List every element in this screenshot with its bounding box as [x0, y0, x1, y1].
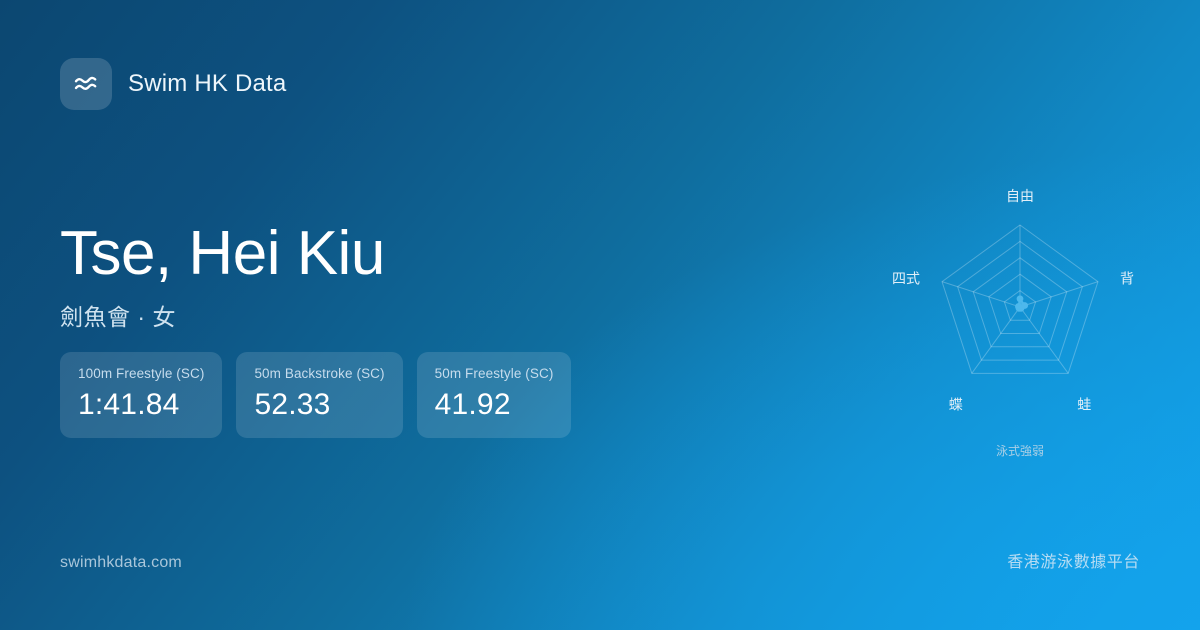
radar-series-polygon	[1015, 295, 1028, 311]
footer-site-url: swimhkdata.com	[60, 554, 182, 572]
page-title: Tse, Hei Kiu	[60, 222, 385, 286]
headline: Tse, Hei Kiu 劍魚會 · 女	[60, 222, 385, 332]
radar-axis-labels: 自由背蛙蝶四式	[892, 189, 1134, 413]
radar-axis-label: 蛙	[1077, 397, 1091, 413]
stat-card-value: 41.92	[435, 388, 554, 422]
og-preview-card: Swim HK Data Tse, Hei Kiu 劍魚會 · 女 100m F…	[0, 0, 1200, 630]
brand-name: Swim HK Data	[128, 70, 286, 98]
stat-card: 100m Freestyle (SC) 1:41.84	[60, 352, 222, 438]
wave-icon	[60, 58, 112, 110]
stroke-strength-radar-chart: 自由背蛙蝶四式 泳式強弱	[860, 170, 1180, 470]
stat-card-list: 100m Freestyle (SC) 1:41.84 50m Backstro…	[60, 352, 571, 438]
stat-card: 50m Backstroke (SC) 52.33	[236, 352, 402, 438]
athlete-meta: 劍魚會 · 女	[60, 298, 385, 332]
brand: Swim HK Data	[60, 58, 286, 110]
stat-card-value: 1:41.84	[78, 388, 204, 422]
radar-axis-label: 蝶	[949, 397, 963, 413]
radar-caption: 泳式強弱	[996, 444, 1044, 458]
stat-card-label: 50m Backstroke (SC)	[254, 366, 384, 381]
stat-card-label: 100m Freestyle (SC)	[78, 366, 204, 381]
radar-axis-label: 自由	[1006, 189, 1034, 205]
footer-tagline: 香港游泳數據平台	[1007, 548, 1140, 572]
stat-card-label: 50m Freestyle (SC)	[435, 366, 554, 381]
radar-axis-label: 背	[1120, 272, 1134, 288]
radar-axis-label: 四式	[892, 272, 920, 288]
stat-card-value: 52.33	[254, 388, 384, 422]
stat-card: 50m Freestyle (SC) 41.92	[417, 352, 572, 438]
